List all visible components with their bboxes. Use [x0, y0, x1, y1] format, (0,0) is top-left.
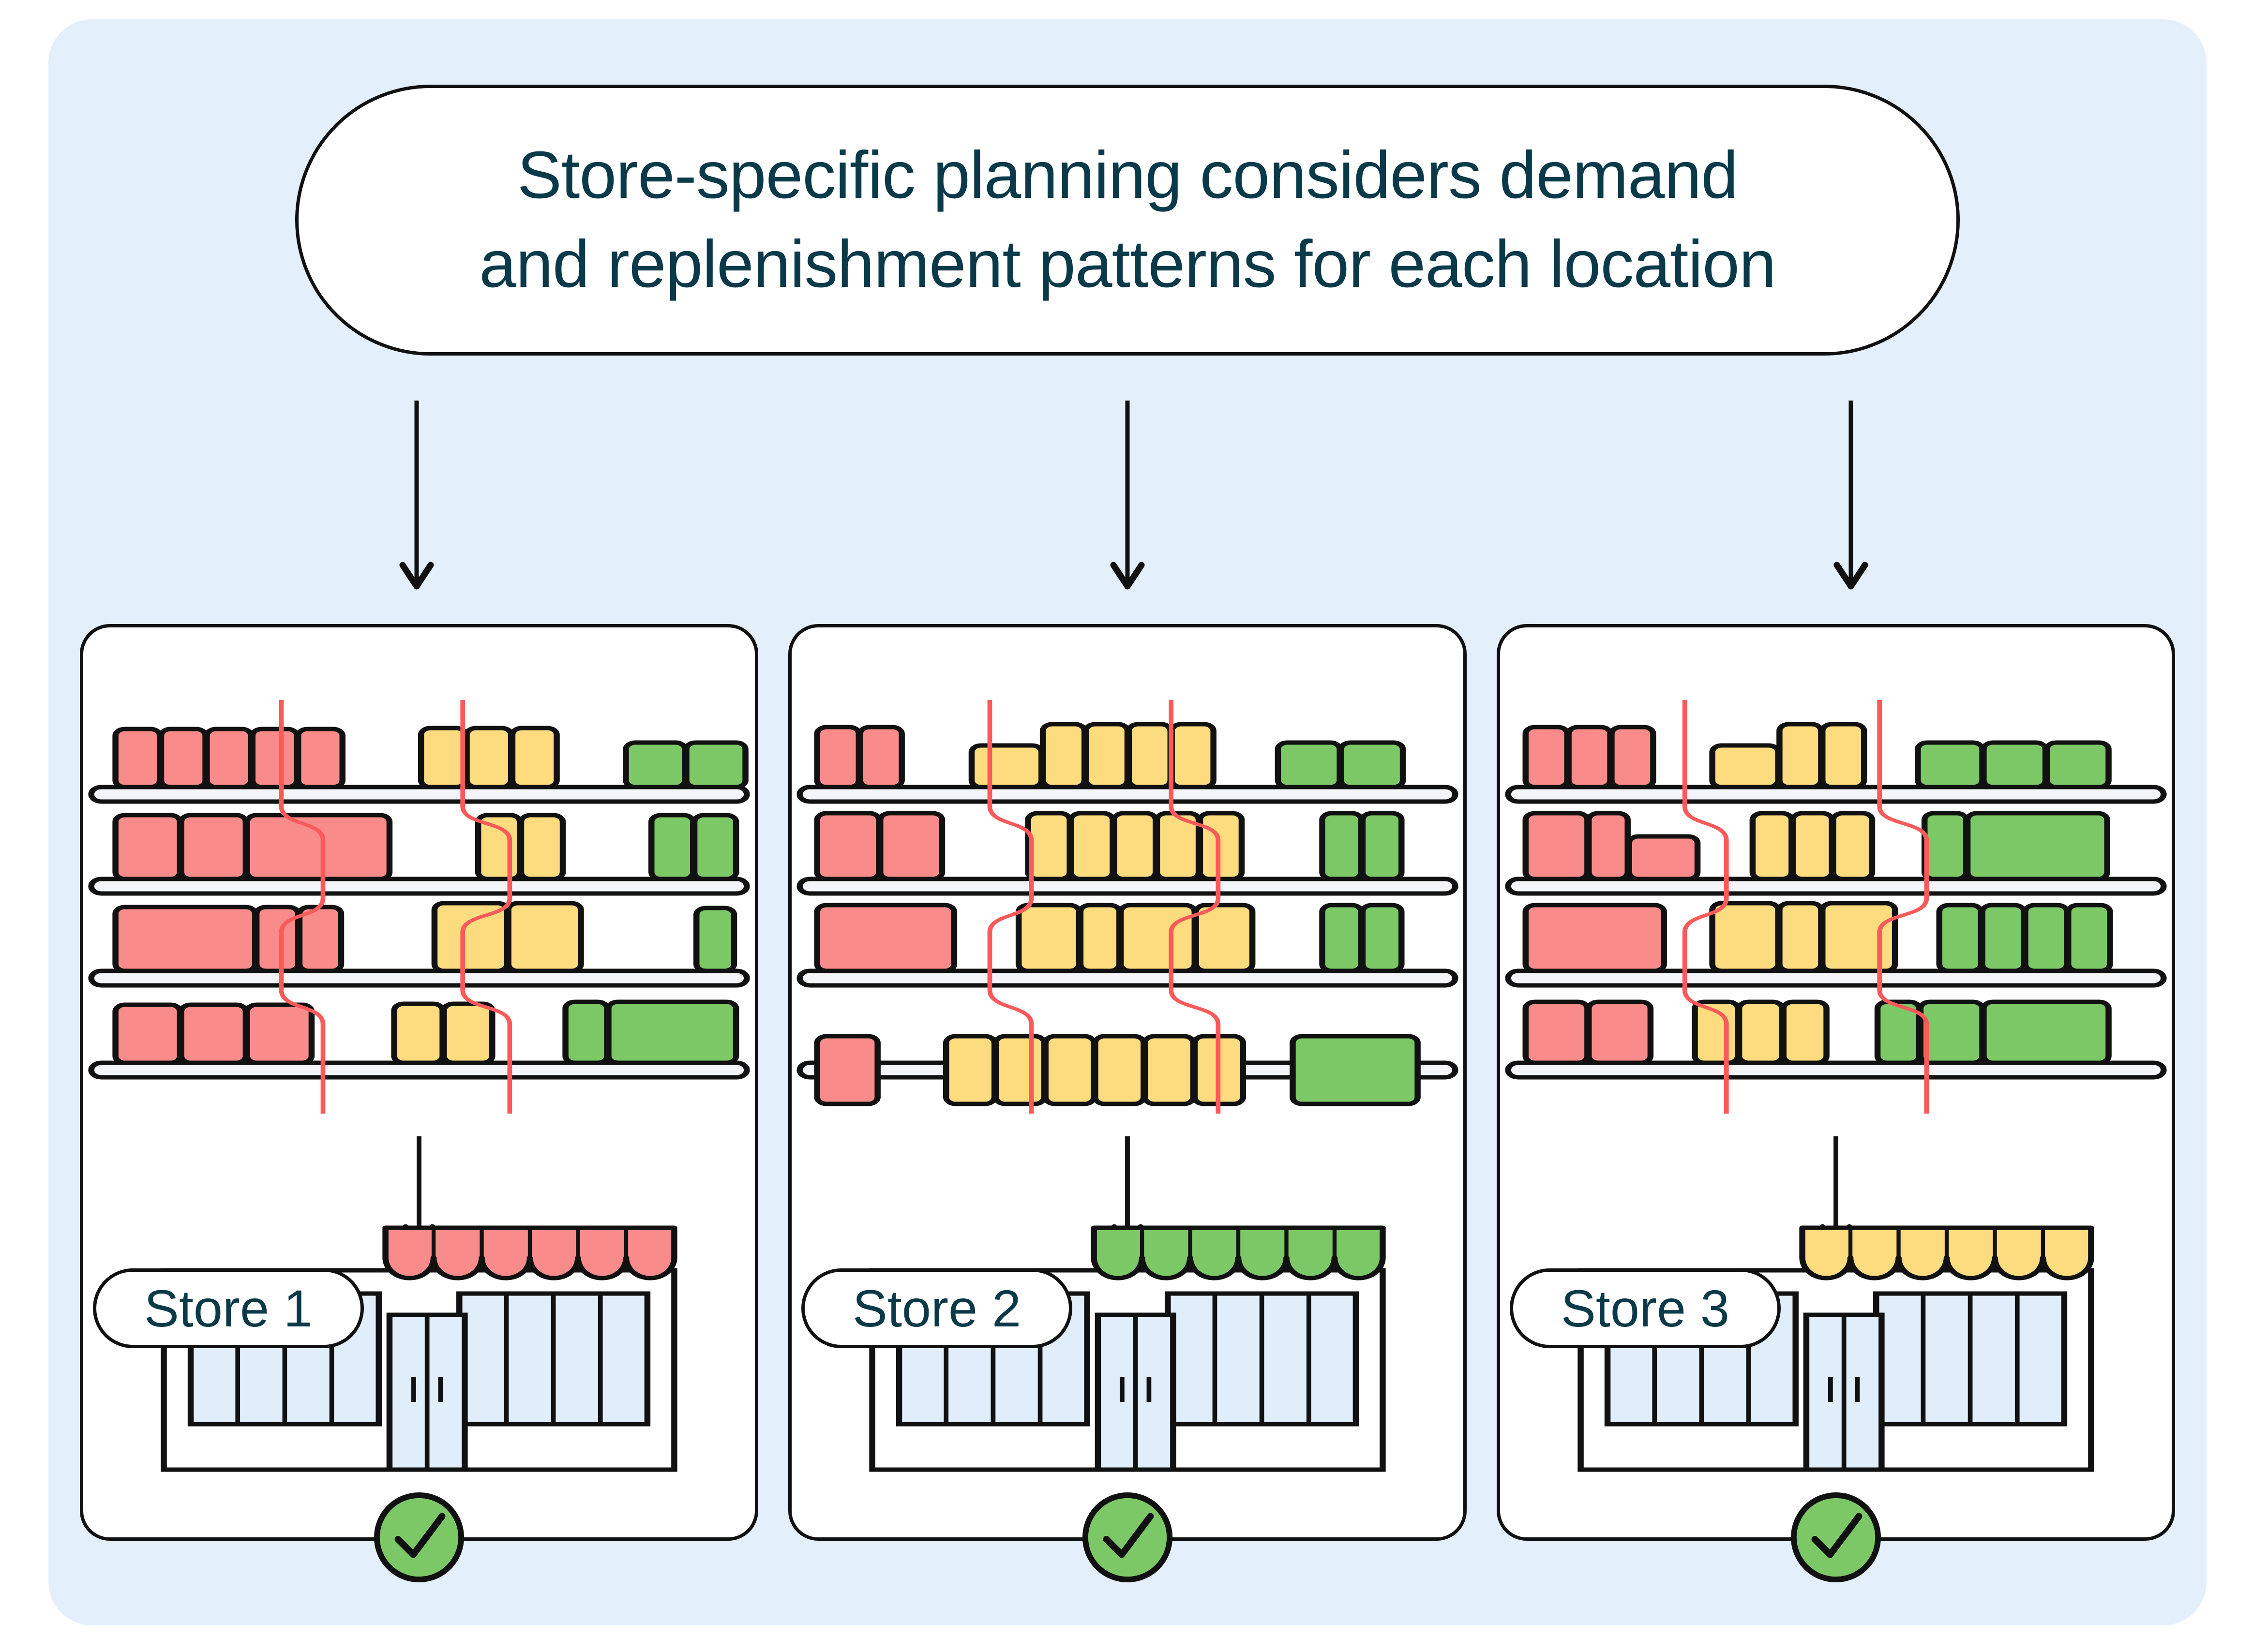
shelf-row [116, 1002, 736, 1063]
shelf-rail [800, 879, 1456, 893]
product-box [1526, 727, 1567, 787]
product-box [1121, 905, 1195, 971]
product-box [1292, 1036, 1417, 1104]
product-box [1739, 1002, 1782, 1063]
shelf-row [817, 724, 1403, 787]
check-icon [1788, 1489, 1884, 1585]
product-box [1114, 813, 1156, 879]
product-box [1983, 743, 2045, 787]
shelf-unit [83, 627, 755, 1116]
arrow-down-icon [1106, 397, 1149, 600]
product-box [686, 743, 745, 787]
product-box [116, 815, 180, 879]
product-box [817, 727, 859, 787]
product-box [116, 1005, 180, 1063]
product-box [1028, 813, 1070, 879]
store-panel-group: Store 1Store 2Store 3 [80, 624, 2175, 1541]
product-box [1086, 724, 1127, 787]
shelf-rail [91, 1063, 747, 1077]
product-box [1172, 724, 1214, 787]
product-box [694, 815, 736, 879]
product-box [1589, 813, 1628, 879]
product-box [1363, 905, 1402, 971]
check-icon [371, 1489, 467, 1585]
product-box [1779, 903, 1821, 971]
product-box [1822, 724, 1864, 787]
product-box [1196, 905, 1253, 971]
product-box [1278, 743, 1340, 787]
title-pill: Store-specific planning considers demand… [295, 85, 1960, 356]
product-box [1363, 813, 1402, 879]
product-box [1071, 813, 1112, 879]
product-box [161, 729, 206, 787]
product-box [116, 729, 160, 787]
check-icon [1080, 1489, 1175, 1585]
product-box [247, 815, 390, 879]
product-box [817, 813, 879, 879]
shelf-row [1526, 903, 2110, 971]
store-door[interactable] [390, 1315, 465, 1470]
product-box [1526, 813, 1588, 879]
product-box [1569, 727, 1610, 787]
product-box [1712, 745, 1778, 787]
shelf-rail [1508, 787, 2164, 802]
product-box [247, 1005, 312, 1063]
product-box [1921, 1002, 1983, 1063]
product-box [2025, 905, 2067, 971]
storefront-illustration [83, 1199, 755, 1537]
product-box [467, 728, 511, 787]
product-box [1043, 724, 1084, 787]
product-box [181, 815, 246, 879]
store-label-text: Store 3 [1561, 1278, 1729, 1339]
store-label-pill[interactable]: Store 1 [93, 1268, 364, 1348]
arrow-down-icon [395, 397, 438, 600]
product-box [2068, 905, 2110, 971]
product-box [521, 815, 563, 879]
shelf-row [116, 815, 736, 879]
store-panel[interactable]: Store 3 [1497, 624, 2175, 1541]
product-box [444, 1004, 492, 1063]
storefront-illustration [1500, 1199, 2172, 1537]
product-box [1611, 727, 1653, 787]
page-title: Store-specific planning considers demand… [479, 131, 1775, 309]
store-label-pill[interactable]: Store 2 [801, 1268, 1072, 1348]
product-box [1589, 1002, 1651, 1063]
product-box [300, 907, 341, 971]
shelf-row [817, 905, 1402, 971]
product-box [1939, 905, 1981, 971]
product-box [696, 908, 734, 971]
product-box [817, 905, 954, 971]
product-box [626, 743, 685, 787]
product-box [1095, 1036, 1143, 1104]
product-box [1779, 724, 1821, 787]
product-box [860, 727, 902, 787]
shelf-rail [800, 787, 1456, 802]
shelf-row [1526, 813, 2107, 879]
store-door[interactable] [1806, 1315, 1881, 1470]
product-box [880, 813, 942, 879]
shelf-rail [1508, 1063, 2164, 1077]
product-box [651, 815, 693, 879]
store-panel[interactable]: Store 2 [788, 624, 1467, 1541]
product-box [1322, 905, 1362, 971]
product-box [972, 745, 1041, 787]
store-label-text: Store 1 [144, 1278, 313, 1339]
product-box [817, 1036, 878, 1104]
shelf-rail [91, 971, 747, 985]
store-label-text: Store 2 [853, 1278, 1021, 1339]
product-box [1019, 905, 1079, 971]
store-window [459, 1294, 647, 1424]
shelf-rail [91, 787, 747, 802]
product-box [1833, 813, 1872, 879]
product-box [608, 1002, 736, 1063]
store-door[interactable] [1098, 1315, 1173, 1470]
shelf-row [1526, 1002, 2109, 1063]
product-box [2047, 743, 2109, 787]
shelf-rail [91, 879, 747, 893]
product-box [394, 1004, 443, 1063]
store-window [1876, 1294, 2064, 1424]
shelf-unit [792, 627, 1463, 1116]
product-box [1129, 724, 1171, 787]
product-box [207, 729, 251, 787]
product-box [1784, 1002, 1827, 1063]
product-box [1793, 813, 1832, 879]
product-box [1753, 813, 1792, 879]
product-box [1200, 813, 1242, 879]
product-box [253, 729, 297, 787]
shelf-rail [1508, 971, 2164, 985]
product-box [1983, 1002, 2108, 1063]
product-box [1712, 903, 1778, 971]
shelf-rail [800, 971, 1456, 985]
shelf-row [817, 813, 1402, 879]
store-window [1168, 1294, 1356, 1424]
product-box [1046, 1036, 1094, 1104]
product-box [1341, 743, 1403, 787]
product-box [1526, 905, 1664, 971]
shelf-row [1526, 724, 2109, 787]
product-box [421, 728, 466, 787]
product-box [509, 903, 581, 971]
product-box [946, 1036, 994, 1104]
product-box [298, 729, 343, 787]
shelf-unit [1500, 627, 2172, 1116]
product-box [1968, 813, 2107, 879]
product-box [116, 907, 255, 971]
shelf-row [116, 903, 734, 971]
store-panel[interactable]: Store 1 [80, 624, 758, 1541]
product-box [478, 815, 520, 879]
product-box [996, 1036, 1044, 1104]
product-box [1322, 813, 1362, 879]
product-box [1145, 1036, 1193, 1104]
storefront-illustration [792, 1199, 1463, 1537]
product-box [1526, 1002, 1588, 1063]
diagram-canvas: Store-specific planning considers demand… [0, 0, 2253, 1652]
product-box [181, 1005, 246, 1063]
shelf-row [116, 728, 746, 787]
product-box [1822, 903, 1895, 971]
product-box [256, 907, 298, 971]
product-box [566, 1002, 607, 1063]
product-box [1924, 813, 1966, 879]
product-box [512, 728, 557, 787]
product-box [1983, 905, 2024, 971]
product-box [1918, 743, 1982, 787]
store-label-pill[interactable]: Store 3 [1510, 1268, 1781, 1348]
shelf-rail [1508, 879, 2164, 893]
product-box [1081, 905, 1120, 971]
arrow-down-icon [1829, 397, 1873, 600]
product-box [1629, 836, 1697, 879]
